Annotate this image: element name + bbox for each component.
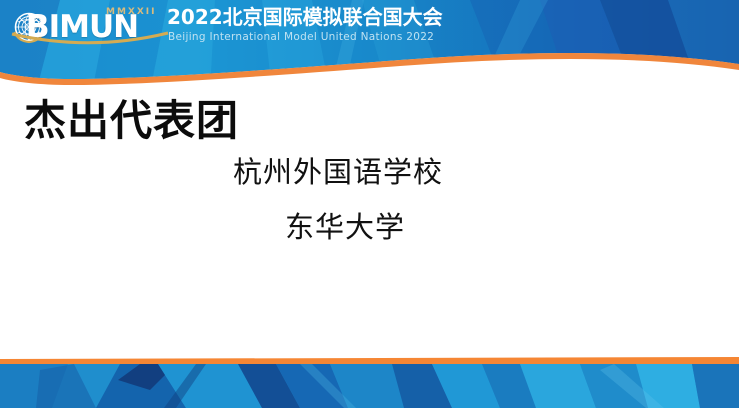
logo-gold-arc xyxy=(10,30,170,48)
conference-title-en: Beijing International Model United Natio… xyxy=(168,31,434,43)
footer-banner xyxy=(0,350,739,408)
header-banner: MMXXII BIMUN 2022北京国际模拟联合国大会 Beijing Int… xyxy=(0,0,739,92)
conference-title-cn: 2022北京国际模拟联合国大会 xyxy=(167,6,443,28)
delegation-name-1: 杭州外国语学校 xyxy=(233,154,443,190)
award-category-title: 杰出代表团 xyxy=(24,96,239,146)
slide-body: 杰出代表团 杭州外国语学校 东华大学 xyxy=(0,92,739,350)
presentation-slide: MMXXII BIMUN 2022北京国际模拟联合国大会 Beijing Int… xyxy=(0,0,739,408)
header-content: MMXXII BIMUN 2022北京国际模拟联合国大会 Beijing Int… xyxy=(0,0,739,52)
bimun-logo: MMXXII BIMUN xyxy=(8,4,173,50)
delegation-name-2: 东华大学 xyxy=(285,209,405,245)
footer-banner-graphic xyxy=(0,350,739,408)
